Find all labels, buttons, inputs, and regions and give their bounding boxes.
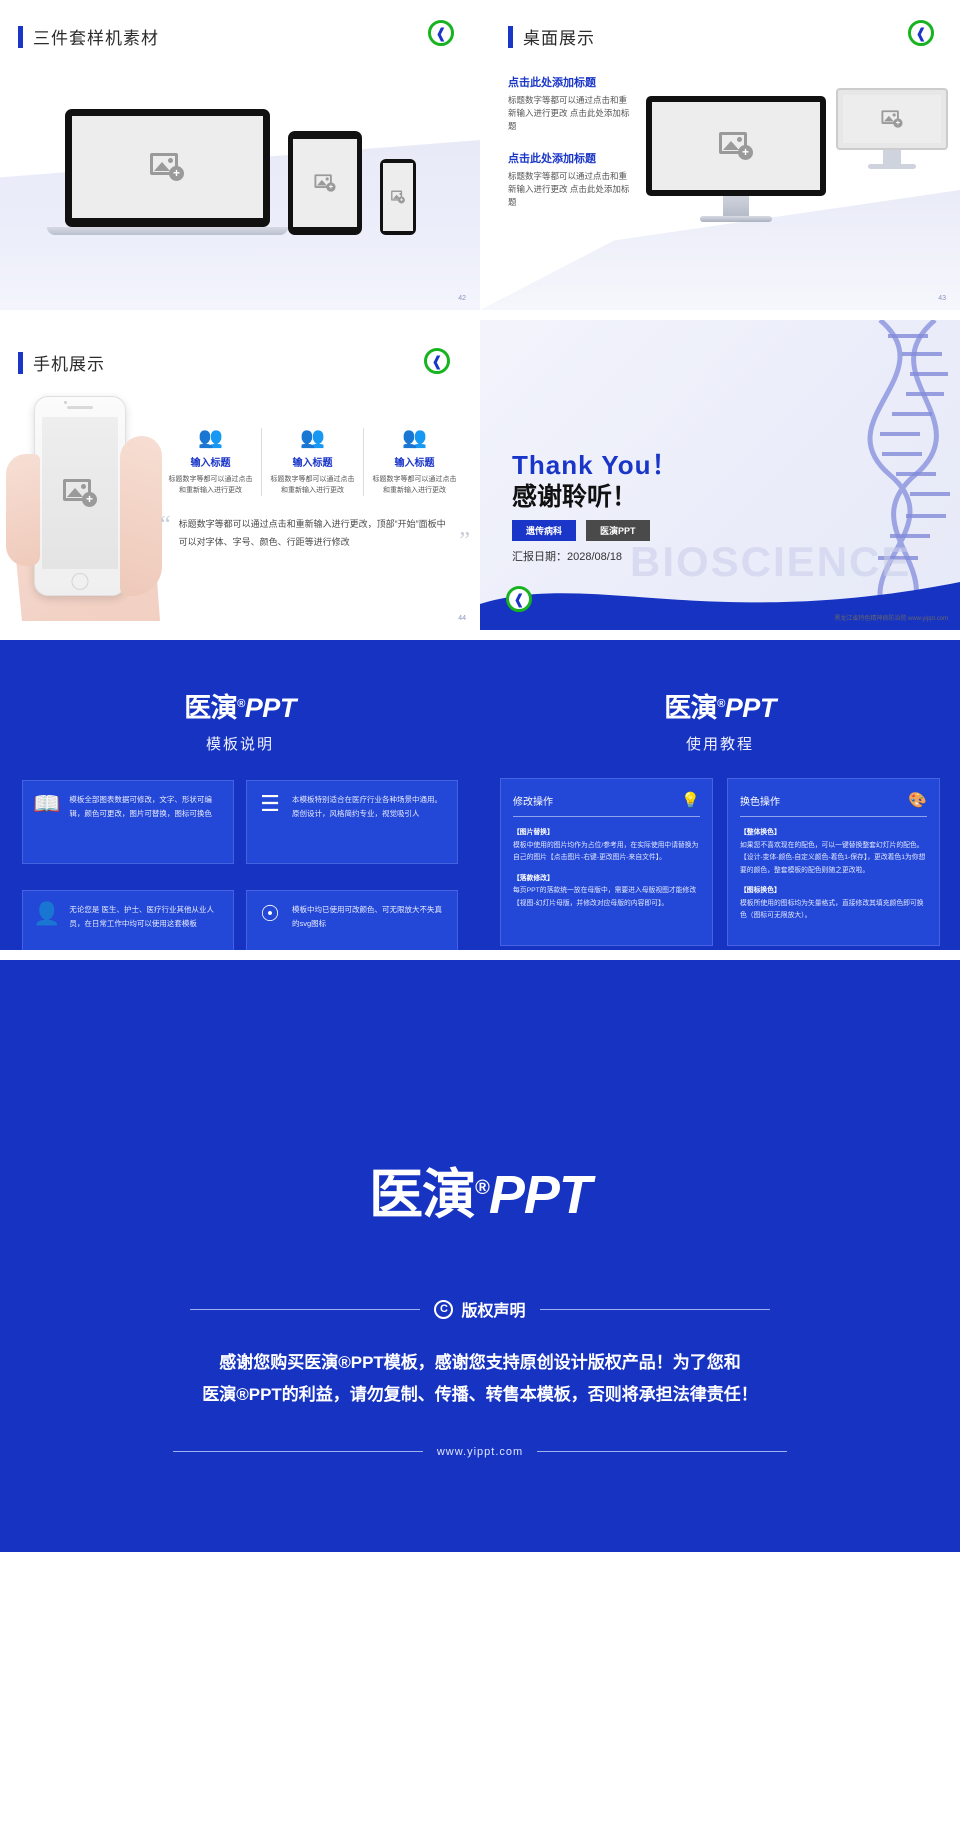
website-row: www.yippt.com xyxy=(0,1446,960,1458)
tutorial-item: 【图片替换】 模板中使用的图片均作为占位/参考用，在实际使用中请替换为自己的图片… xyxy=(513,827,700,865)
block-body: 标题数字等都可以通过点击和重新输入进行更改 点击此处添加标题 xyxy=(508,94,633,134)
tag-department[interactable]: 遗传病科 xyxy=(512,520,576,541)
phone-screen: + xyxy=(380,159,416,235)
phone-speaker-notch xyxy=(67,406,93,409)
tutorial-item-label: 【图片替换】 xyxy=(513,829,554,836)
phone-device: + xyxy=(34,396,126,596)
green-circle-logo-icon: ❰ xyxy=(424,348,450,374)
phone-camera-dot xyxy=(64,401,67,404)
monitor-screen: + xyxy=(836,88,948,150)
slide-title: 手机展示 xyxy=(33,350,105,375)
feature-column[interactable]: 👥 输入标题 标题数字等都可以通过点击和重新输入进行更改 xyxy=(160,428,261,496)
registered-mark: ® xyxy=(717,698,725,710)
tutorial-item-text: 模板所使用的图标均为矢量格式，直接修改其填充颜色即可换色（图标可无限放大）。 xyxy=(740,900,924,920)
registered-mark: ® xyxy=(475,1177,489,1199)
brand-logo-badge[interactable]: ❰ xyxy=(428,20,454,46)
brand-logo: 医演®PPT xyxy=(480,640,960,725)
tutorial-column-header: 换色操作 🎨 xyxy=(740,791,927,817)
page-number: 42 xyxy=(458,295,466,302)
brand-logo-badge[interactable]: ❰ xyxy=(424,348,450,374)
tutorial-column-heading: 换色操作 xyxy=(740,793,780,808)
tutorial-item: 【图标换色】 模板所使用的图标均为矢量格式，直接修改其填充颜色即可换色（图标可无… xyxy=(740,885,927,923)
text-block-column: 点击此处添加标题 标题数字等都可以通过点击和重新输入进行更改 点击此处添加标题 … xyxy=(508,74,633,209)
slide-header: 桌面展示 xyxy=(508,24,595,49)
copyright-icon: C xyxy=(434,1300,453,1319)
slide-subtitle: 模板说明 xyxy=(0,733,480,754)
text-block: 点击此处添加标题 标题数字等都可以通过点击和重新输入进行更改 点击此处添加标题 xyxy=(508,150,633,210)
monitor-stand-neck xyxy=(723,196,749,216)
row-gutter xyxy=(0,630,960,640)
feature-column[interactable]: 👥 输入标题 标题数字等都可以通过点击和重新输入进行更改 xyxy=(363,428,465,496)
tutorial-column-heading: 修改操作 xyxy=(513,793,553,808)
image-placeholder-icon: + xyxy=(719,132,753,160)
row-gutter xyxy=(0,310,960,320)
slide-row-1: 三件套样机素材 ❰ + xyxy=(0,0,960,310)
brand-name: 医演 xyxy=(184,693,237,723)
feature-title: 输入标题 xyxy=(370,454,459,469)
divider-right xyxy=(537,1451,787,1452)
monitor-screen-content: + xyxy=(843,95,941,143)
row-gutter xyxy=(0,950,960,960)
image-placeholder-icon: + xyxy=(314,174,335,191)
green-circle-logo-icon: ❰ xyxy=(506,586,532,612)
note-card-row: 📖 模板全部图表数据可修改，文字、形状可编辑，颜色可更改，图片可替换，图标可换色… xyxy=(0,754,480,864)
tag-brand[interactable]: 医演PPT xyxy=(586,520,650,541)
registered-mark: ® xyxy=(237,698,245,710)
note-card-text: 模板全部图表数据可修改，文字、形状可编辑，颜色可更改，图片可替换，图标可换色 xyxy=(69,793,223,821)
laptop-mockup[interactable]: + xyxy=(65,109,270,235)
copyright-line-2: 医演®PPT的利益，请勿复制、传播、转售本模板，否则将承担法律责任！ xyxy=(0,1379,960,1411)
brand-suffix: PPT xyxy=(725,693,776,723)
slide-header: 三件套样机素材 xyxy=(18,24,159,49)
title-accent-bar xyxy=(18,26,23,48)
page-number: 43 xyxy=(938,295,946,302)
group-people-icon: 👥 xyxy=(268,428,357,448)
slide-title: 桌面展示 xyxy=(523,24,595,49)
tutorial-item-label: 【图标换色】 xyxy=(740,887,781,894)
slide-thank-you[interactable]: BIOSCIENCE Thank You！ 感谢聆听！ 遗传病科 医演PPT 汇… xyxy=(480,320,960,630)
palette-icon: 🎨 xyxy=(908,791,927,809)
feature-desc: 标题数字等都可以通过点击和重新输入进行更改 xyxy=(268,474,357,496)
monitor-stand-base xyxy=(868,164,916,169)
tutorial-column[interactable]: 换色操作 🎨 【整体换色】 如果您不喜欢现在的配色，可以一键替换整套幻灯片的配色… xyxy=(727,778,940,946)
lightbulb-icon: 💡 xyxy=(681,791,700,809)
brand-logo-badge[interactable]: ❰ xyxy=(506,586,532,612)
note-card[interactable]: 📖 模板全部图表数据可修改，文字、形状可编辑，颜色可更改，图片可替换，图标可换色 xyxy=(22,780,234,864)
thank-you-title-cn: 感谢聆听！ xyxy=(512,477,637,513)
laptop-base xyxy=(47,227,288,235)
user-card-icon: 👤 xyxy=(33,903,60,925)
tutorial-column-header: 修改操作 💡 xyxy=(513,791,700,817)
slide-three-device-mockup[interactable]: 三件套样机素材 ❰ + xyxy=(0,0,480,310)
slide-phone-display[interactable]: 手机展示 ❰ + xyxy=(0,320,480,630)
monitor-mockup-primary[interactable]: + xyxy=(646,96,826,222)
page-number: 44 xyxy=(458,615,466,622)
tutorial-item-label: 【落款修改】 xyxy=(513,875,554,882)
slide-footer: 黑龙江省特色精神病防治院 www.yippt.com xyxy=(834,613,948,622)
tutorial-item: 【落款修改】 每页PPT的落款统一放在母版中，需要进入母版视图才能修改【视图-幻… xyxy=(513,873,700,911)
feature-column-group: 👥 输入标题 标题数字等都可以通过点击和重新输入进行更改 👥 输入标题 标题数字… xyxy=(160,428,465,496)
quote-text: 标题数字等都可以通过点击和重新输入进行更改，顶部“开始”面板中可以对字体、字号、… xyxy=(179,516,452,551)
quote-block: “ 标题数字等都可以通过点击和重新输入进行更改，顶部“开始”面板中可以对字体、字… xyxy=(160,516,470,551)
team-people-icon: 👥 xyxy=(166,428,255,448)
note-card-text: 本模板特别适合在医疗行业各种场景中通用。原创设计，风格简约专业，视觉吸引人 xyxy=(292,793,447,821)
monitor-screen-content: + xyxy=(652,102,820,190)
slide-row-3: 医演®PPT 模板说明 📖 模板全部图表数据可修改，文字、形状可编辑，颜色可更改… xyxy=(0,640,960,950)
copyright-label: 版权声明 xyxy=(461,1297,525,1321)
brand-suffix: PPT xyxy=(489,1165,591,1225)
monitor-screen: + xyxy=(646,96,826,196)
divider-right xyxy=(540,1309,770,1310)
note-card-row: 👤 无论您是 医生、护士、医疗行业其他从业人员，在日常工作中均可以使用这套模板 … xyxy=(0,864,480,950)
copyright-line-1: 感谢您购买医演®PPT模板，感谢您支持原创设计版权产品！为了您和 xyxy=(0,1347,960,1379)
logo-glyph: ❰ xyxy=(513,592,525,606)
tutorial-item: 【整体换色】 如果您不喜欢现在的配色，可以一键替换整套幻灯片的配色。【设计-变体… xyxy=(740,827,927,877)
tutorial-item-label: 【整体换色】 xyxy=(740,829,781,836)
tutorial-item-text: 如果您不喜欢现在的配色，可以一键替换整套幻灯片的配色。【设计-变体-颜色-自定义… xyxy=(740,842,925,874)
phone-home-button xyxy=(72,573,89,590)
logo-glyph: ❰ xyxy=(915,26,927,40)
note-card[interactable]: ☰ 本模板特别适合在医疗行业各种场景中通用。原创设计，风格简约专业，视觉吸引人 xyxy=(246,780,458,864)
tutorial-item-text: 每页PPT的落款统一放在母版中，需要进入母版视图才能修改【视图-幻灯片母版，并修… xyxy=(513,887,696,907)
divider-left xyxy=(173,1451,423,1452)
note-card[interactable]: ☉ 模板中均已使用可改颜色、可无限放大不失真的svg图标 xyxy=(246,890,458,950)
image-placeholder-icon: + xyxy=(391,191,405,204)
tutorial-item-text: 模板中使用的图片均作为占位/参考用，在实际使用中请替换为自己的图片【点击图片-右… xyxy=(513,842,698,862)
logo-glyph: ❰ xyxy=(431,354,443,368)
brand-logo-large: 医演®PPT xyxy=(0,960,960,1229)
slide-desktop-display[interactable]: 桌面展示 ❰ 点击此处添加标题 标题数字等都可以通过点击和重新输入进行更改 点击… xyxy=(480,0,960,310)
feature-column[interactable]: 👥 输入标题 标题数字等都可以通过点击和重新输入进行更改 xyxy=(261,428,363,496)
note-card-text: 模板中均已使用可改颜色、可无限放大不失真的svg图标 xyxy=(292,903,447,931)
monitor-stand-neck xyxy=(883,150,901,164)
brand-logo-badge[interactable]: ❰ xyxy=(908,20,934,46)
website-url[interactable]: www.yippt.com xyxy=(437,1446,523,1458)
book-icon: 📖 xyxy=(33,793,60,815)
block-heading: 点击此处添加标题 xyxy=(508,74,633,90)
hand-thumb xyxy=(6,454,40,566)
ppt-preview-page: 三件套样机素材 ❰ + xyxy=(0,0,960,1697)
divider-left xyxy=(190,1309,420,1310)
image-placeholder-icon: + xyxy=(881,110,902,127)
phone-mockup[interactable]: + xyxy=(380,159,416,235)
slide-row-2: 手机展示 ❰ + xyxy=(0,320,960,630)
text-block: 点击此处添加标题 标题数字等都可以通过点击和重新输入进行更改 点击此处添加标题 xyxy=(508,74,633,134)
brand-suffix: PPT xyxy=(245,693,296,723)
feature-desc: 标题数字等都可以通过点击和重新输入进行更改 xyxy=(370,474,459,496)
copyright-heading-row: C 版权声明 xyxy=(0,1297,960,1321)
slide-title: 三件套样机素材 xyxy=(33,24,159,49)
tag-group: 遗传病科 医演PPT xyxy=(512,520,650,541)
laptop-screen-content: + xyxy=(72,116,263,218)
slide-tutorial[interactable]: 医演®PPT 使用教程 修改操作 💡 【图片替换】 模板中使用的图片均作为占位/… xyxy=(480,640,960,950)
device-mockup-group: + + xyxy=(0,95,480,235)
brand-logo: 医演®PPT xyxy=(0,640,480,725)
feature-title: 输入标题 xyxy=(166,454,255,469)
image-placeholder-icon: + xyxy=(150,153,184,181)
block-heading: 点击此处添加标题 xyxy=(508,150,633,166)
copyright-heading: C 版权声明 xyxy=(434,1297,525,1321)
slide-copyright[interactable]: 医演®PPT C 版权声明 感谢您购买医演®PPT模板，感谢您支持原创设计版权产… xyxy=(0,960,960,1552)
brand-name: 医演 xyxy=(664,693,717,723)
green-circle-logo-icon: ❰ xyxy=(908,20,934,46)
feature-title: 输入标题 xyxy=(268,454,357,469)
tutorial-column[interactable]: 修改操作 💡 【图片替换】 模板中使用的图片均作为占位/参考用，在实际使用中请替… xyxy=(500,778,713,946)
page-bottom-padding xyxy=(0,1552,960,1697)
title-accent-bar xyxy=(18,352,23,374)
feature-desc: 标题数字等都可以通过点击和重新输入进行更改 xyxy=(166,474,255,496)
tablet-screen-content: + xyxy=(293,139,357,227)
copyright-body: 感谢您购买医演®PPT模板，感谢您支持原创设计版权产品！为了您和 医演®PPT的… xyxy=(0,1347,960,1412)
slide-header: 手机展示 xyxy=(18,350,105,375)
tablet-mockup[interactable]: + xyxy=(288,131,362,235)
note-card-text: 无论您是 医生、护士、医疗行业其他从业人员，在日常工作中均可以使用这套模板 xyxy=(69,903,223,931)
quote-open-icon: “ xyxy=(160,516,171,535)
note-card[interactable]: 👤 无论您是 医生、护士、医疗行业其他从业人员，在日常工作中均可以使用这套模板 xyxy=(22,890,234,950)
layers-icon: ☰ xyxy=(257,793,283,815)
phone-screen-content: + xyxy=(42,417,118,569)
monitor-mockup-secondary[interactable]: + xyxy=(836,88,948,169)
tutorial-column-row: 修改操作 💡 【图片替换】 模板中使用的图片均作为占位/参考用，在实际使用中请替… xyxy=(480,754,960,946)
image-placeholder-icon: + xyxy=(63,479,97,507)
dribbble-icon: ☉ xyxy=(257,903,283,925)
green-circle-logo-icon: ❰ xyxy=(428,20,454,46)
monitor-stand-base xyxy=(700,216,772,222)
three-people-icon: 👥 xyxy=(370,428,459,448)
quote-close-icon: ” xyxy=(459,532,470,551)
hand-fingers xyxy=(120,436,162,596)
slide-template-note[interactable]: 医演®PPT 模板说明 📖 模板全部图表数据可修改，文字、形状可编辑，颜色可更改… xyxy=(0,640,480,950)
phone-screen-content: + xyxy=(383,163,413,231)
hand-holding-phone-mockup[interactable]: + xyxy=(10,396,160,621)
title-accent-bar xyxy=(508,26,513,48)
logo-glyph: ❰ xyxy=(435,26,447,40)
slide-subtitle: 使用教程 xyxy=(480,733,960,754)
tablet-screen: + xyxy=(288,131,362,235)
laptop-screen: + xyxy=(65,109,270,227)
brand-name: 医演 xyxy=(369,1165,475,1225)
block-body: 标题数字等都可以通过点击和重新输入进行更改 点击此处添加标题 xyxy=(508,170,633,210)
